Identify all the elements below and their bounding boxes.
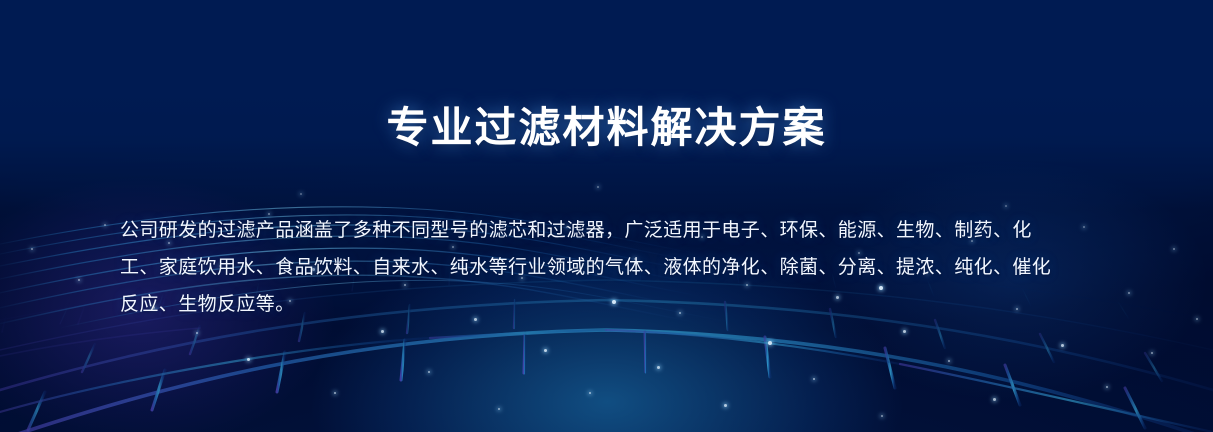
banner-description: 公司研发的过滤产品涵盖了多种不同型号的滤芯和过滤器，广泛适用于电子、环保、能源、…	[120, 212, 1102, 323]
banner-content: 专业过滤材料解决方案 公司研发的过滤产品涵盖了多种不同型号的滤芯和过滤器，广泛适…	[0, 0, 1213, 432]
description-line-3: 反应、生物反应等。	[120, 286, 1102, 323]
page-title: 专业过滤材料解决方案	[0, 103, 1213, 153]
hero-banner: 专业过滤材料解决方案 公司研发的过滤产品涵盖了多种不同型号的滤芯和过滤器，广泛适…	[0, 0, 1213, 432]
description-line-1: 公司研发的过滤产品涵盖了多种不同型号的滤芯和过滤器，广泛适用于电子、环保、能源、…	[120, 212, 1102, 249]
description-line-2: 工、家庭饮用水、食品饮料、自来水、纯水等行业领域的气体、液体的净化、除菌、分离、…	[120, 249, 1102, 286]
